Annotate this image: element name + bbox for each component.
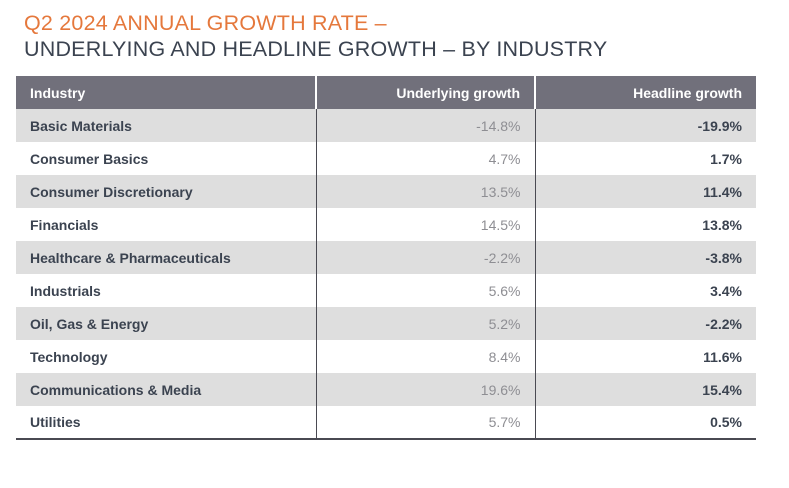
table-header: Industry Underlying growth Headline grow… (16, 76, 756, 109)
cell-underlying-growth: 5.7% (316, 406, 535, 439)
cell-headline-growth: 11.4% (535, 175, 756, 208)
cell-industry: Industrials (16, 274, 316, 307)
cell-industry: Oil, Gas & Energy (16, 307, 316, 340)
cell-industry: Consumer Discretionary (16, 175, 316, 208)
cell-underlying-growth: 13.5% (316, 175, 535, 208)
cell-industry: Financials (16, 208, 316, 241)
cell-industry: Healthcare & Pharmaceuticals (16, 241, 316, 274)
cell-underlying-growth: 14.5% (316, 208, 535, 241)
table-body: Basic Materials-14.8%-19.9%Consumer Basi… (16, 109, 756, 439)
cell-industry: Communications & Media (16, 373, 316, 406)
page-title-line-2: UNDERLYING AND HEADLINE GROWTH – BY INDU… (24, 36, 764, 62)
cell-headline-growth: 11.6% (535, 340, 756, 373)
cell-underlying-growth: -2.2% (316, 241, 535, 274)
table-row: Consumer Discretionary13.5%11.4% (16, 175, 756, 208)
page-title: Q2 2024 ANNUAL GROWTH RATE – UNDERLYING … (24, 10, 764, 62)
growth-table-container: Industry Underlying growth Headline grow… (16, 76, 756, 440)
cell-underlying-growth: -14.8% (316, 109, 535, 142)
table-header-row: Industry Underlying growth Headline grow… (16, 76, 756, 109)
table-row: Communications & Media19.6%15.4% (16, 373, 756, 406)
cell-headline-growth: -3.8% (535, 241, 756, 274)
cell-underlying-growth: 8.4% (316, 340, 535, 373)
cell-underlying-growth: 4.7% (316, 142, 535, 175)
cell-industry: Technology (16, 340, 316, 373)
cell-industry: Consumer Basics (16, 142, 316, 175)
table-row: Consumer Basics4.7%1.7% (16, 142, 756, 175)
cell-industry: Utilities (16, 406, 316, 439)
growth-table: Industry Underlying growth Headline grow… (16, 76, 756, 440)
table-row: Financials14.5%13.8% (16, 208, 756, 241)
table-row: Basic Materials-14.8%-19.9% (16, 109, 756, 142)
column-header-industry: Industry (16, 76, 316, 109)
page-root: Q2 2024 ANNUAL GROWTH RATE – UNDERLYING … (0, 0, 789, 488)
cell-headline-growth: -2.2% (535, 307, 756, 340)
table-row: Oil, Gas & Energy5.2%-2.2% (16, 307, 756, 340)
table-row: Healthcare & Pharmaceuticals-2.2%-3.8% (16, 241, 756, 274)
cell-underlying-growth: 5.6% (316, 274, 535, 307)
cell-headline-growth: 3.4% (535, 274, 756, 307)
table-row: Utilities5.7%0.5% (16, 406, 756, 439)
column-header-headline-growth: Headline growth (535, 76, 756, 109)
table-row: Industrials5.6%3.4% (16, 274, 756, 307)
cell-headline-growth: 1.7% (535, 142, 756, 175)
column-header-underlying-growth: Underlying growth (316, 76, 535, 109)
cell-underlying-growth: 19.6% (316, 373, 535, 406)
cell-headline-growth: 0.5% (535, 406, 756, 439)
table-row: Technology8.4%11.6% (16, 340, 756, 373)
cell-headline-growth: 13.8% (535, 208, 756, 241)
cell-headline-growth: -19.9% (535, 109, 756, 142)
cell-underlying-growth: 5.2% (316, 307, 535, 340)
cell-headline-growth: 15.4% (535, 373, 756, 406)
cell-industry: Basic Materials (16, 109, 316, 142)
page-title-line-1: Q2 2024 ANNUAL GROWTH RATE – (24, 10, 764, 36)
